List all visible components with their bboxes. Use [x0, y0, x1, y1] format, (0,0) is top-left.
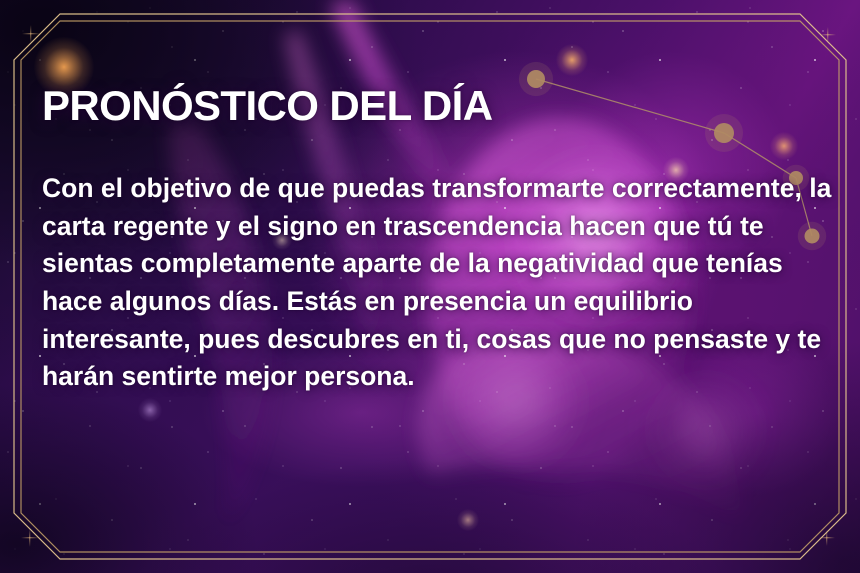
horoscope-body-text: Con el objetivo de que puedas transforma… — [42, 170, 832, 396]
horoscope-card: PRONÓSTICO DEL DÍA Con el objetivo de qu… — [0, 0, 860, 573]
page-title: PRONÓSTICO DEL DÍA — [42, 84, 832, 128]
card-content: PRONÓSTICO DEL DÍA Con el objetivo de qu… — [42, 84, 832, 396]
